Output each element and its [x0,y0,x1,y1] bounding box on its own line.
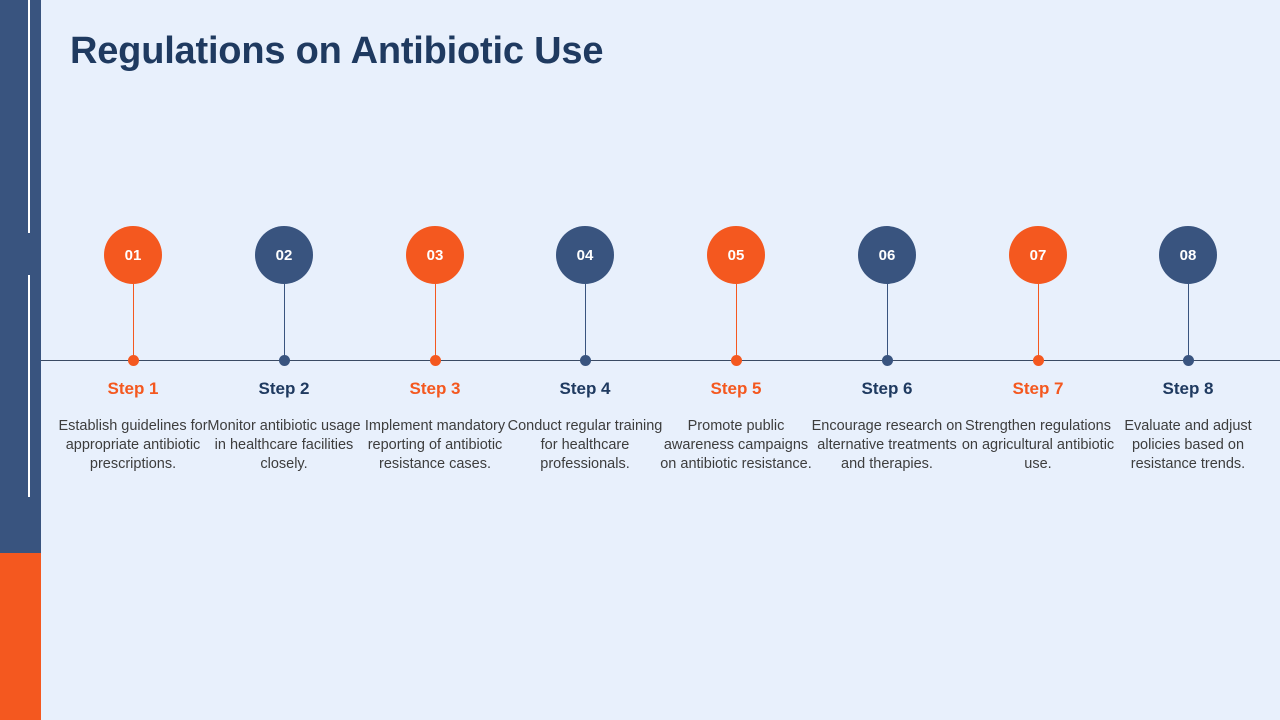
timeline-step-1[interactable]: 01 Step 1 Establish guidelines for appro… [53,0,213,720]
step-number-3: 03 [427,247,444,264]
step-description-6: Encourage research on alternative treatm… [807,417,967,474]
step-description-7: Strengthen regulations on agricultural a… [958,417,1118,474]
step-axis-dot-3 [430,355,441,366]
step-description-5: Promote public awareness campaigns on an… [656,417,816,474]
step-marker-circle-6[interactable]: 06 [858,226,916,284]
step-axis-dot-2 [279,355,290,366]
step-stem-6 [887,284,889,360]
step-number-6: 06 [879,247,896,264]
step-description-3: Implement mandatory reporting of antibio… [355,417,515,474]
step-axis-dot-8 [1183,355,1194,366]
step-stem-5 [736,284,738,360]
step-label-3: Step 3 [355,379,515,399]
step-number-2: 02 [276,247,293,264]
timeline-step-4[interactable]: 04 Step 4 Conduct regular training for h… [505,0,665,720]
step-axis-dot-5 [731,355,742,366]
step-marker-circle-1[interactable]: 01 [104,226,162,284]
step-description-2: Monitor antibiotic usage in healthcare f… [204,417,364,474]
step-label-6: Step 6 [807,379,967,399]
step-axis-dot-7 [1033,355,1044,366]
step-stem-3 [435,284,437,360]
step-marker-circle-3[interactable]: 03 [406,226,464,284]
step-label-7: Step 7 [958,379,1118,399]
timeline-step-5[interactable]: 05 Step 5 Promote public awareness campa… [656,0,816,720]
timeline-step-2[interactable]: 02 Step 2 Monitor antibiotic usage in he… [204,0,364,720]
step-label-8: Step 8 [1108,379,1268,399]
step-number-5: 05 [728,247,745,264]
timeline-steps: 01 Step 1 Establish guidelines for appro… [0,0,1280,720]
step-description-1: Establish guidelines for appropriate ant… [53,417,213,474]
timeline-step-8[interactable]: 08 Step 8 Evaluate and adjust policies b… [1108,0,1268,720]
step-marker-circle-7[interactable]: 07 [1009,226,1067,284]
step-axis-dot-6 [882,355,893,366]
step-number-8: 08 [1180,247,1197,264]
slide-canvas: Regulations on Antibiotic Use 01 Step 1 … [0,0,1280,720]
step-stem-4 [585,284,587,360]
step-stem-2 [284,284,286,360]
step-stem-7 [1038,284,1040,360]
step-axis-dot-4 [580,355,591,366]
timeline-step-3[interactable]: 03 Step 3 Implement mandatory reporting … [355,0,515,720]
step-number-4: 04 [577,247,594,264]
step-axis-dot-1 [128,355,139,366]
step-number-1: 01 [125,247,142,264]
step-label-4: Step 4 [505,379,665,399]
step-stem-8 [1188,284,1190,360]
step-marker-circle-5[interactable]: 05 [707,226,765,284]
step-label-1: Step 1 [53,379,213,399]
step-stem-1 [133,284,135,360]
step-number-7: 07 [1030,247,1047,264]
step-marker-circle-8[interactable]: 08 [1159,226,1217,284]
step-description-4: Conduct regular training for healthcare … [505,417,665,474]
timeline-step-7[interactable]: 07 Step 7 Strengthen regulations on agri… [958,0,1118,720]
step-label-2: Step 2 [204,379,364,399]
step-label-5: Step 5 [656,379,816,399]
timeline-step-6[interactable]: 06 Step 6 Encourage research on alternat… [807,0,967,720]
step-marker-circle-4[interactable]: 04 [556,226,614,284]
step-description-8: Evaluate and adjust policies based on re… [1108,417,1268,474]
step-marker-circle-2[interactable]: 02 [255,226,313,284]
